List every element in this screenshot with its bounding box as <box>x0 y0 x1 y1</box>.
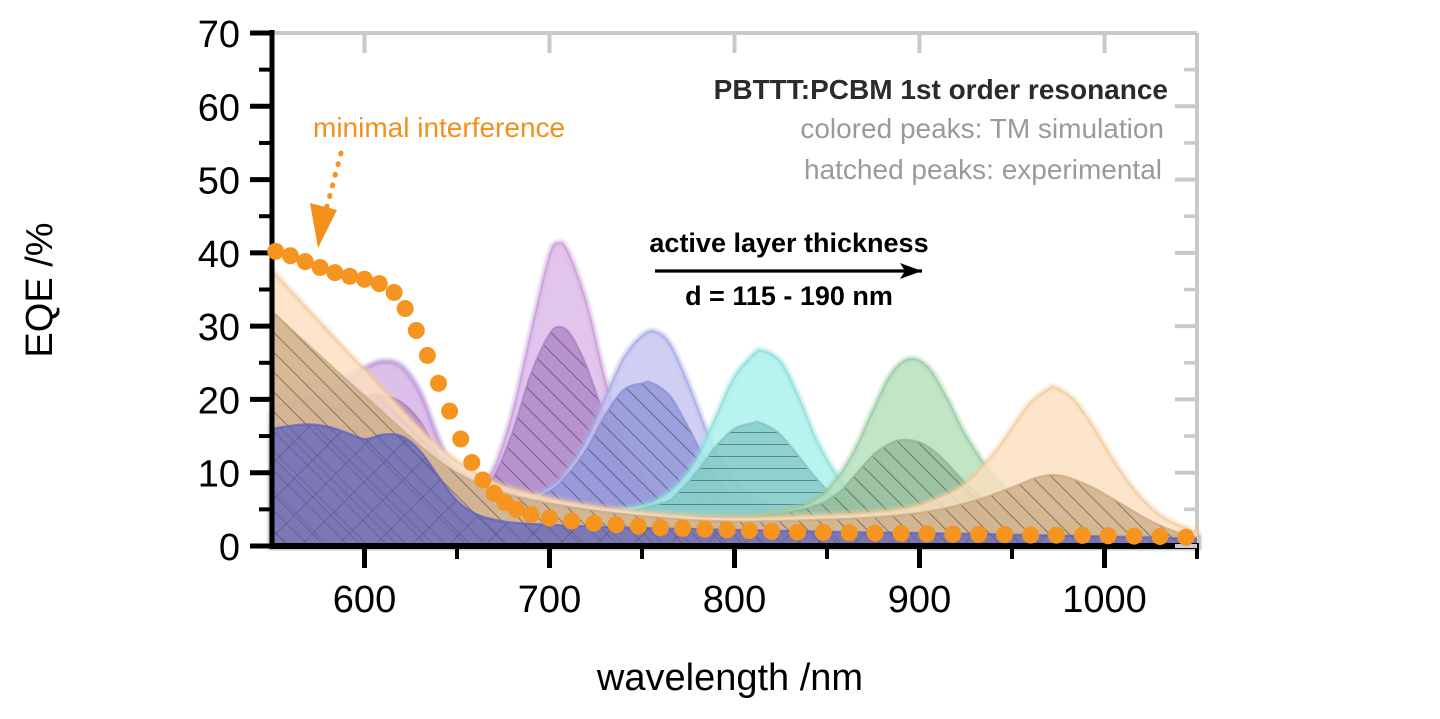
thickness-callout-value: d = 115 - 190 nm <box>685 281 893 311</box>
x-tick-label: 1000 <box>1062 579 1147 621</box>
chart-title-annotation: PBTTT:PCBM 1st order resonance <box>714 74 1168 105</box>
x-tick-label: 600 <box>333 579 396 621</box>
interference-callout-label: minimal interference <box>313 112 565 143</box>
x-axis-title: wavelength /nm <box>596 657 863 699</box>
y-tick-label: 60 <box>198 87 240 129</box>
x-tick-label: 800 <box>703 579 766 621</box>
y-tick-label: 70 <box>198 14 240 56</box>
y-tick-label: 0 <box>219 527 240 569</box>
y-axis-title: EQE /% <box>19 222 61 357</box>
y-tick-label: 20 <box>198 380 240 422</box>
y-tick-label: 30 <box>198 307 240 349</box>
y-tick-label: 50 <box>198 161 240 203</box>
y-tick-label: 40 <box>198 234 240 276</box>
x-tick-label: 700 <box>518 579 581 621</box>
chart-canvas: 0102030405060706007008009001000 waveleng… <box>0 0 1440 719</box>
experimental-legend-note: hatched peaks: experimental <box>804 154 1162 185</box>
x-tick-label: 900 <box>888 579 951 621</box>
eqe-spectrum-chart: 0102030405060706007008009001000 waveleng… <box>0 0 1440 719</box>
y-tick-label: 10 <box>198 454 240 496</box>
thickness-callout-title: active layer thickness <box>649 228 928 258</box>
thickness-callout: active layer thickness d = 115 - 190 nm <box>649 228 928 311</box>
simulation-legend-note: colored peaks: TM simulation <box>800 113 1164 144</box>
